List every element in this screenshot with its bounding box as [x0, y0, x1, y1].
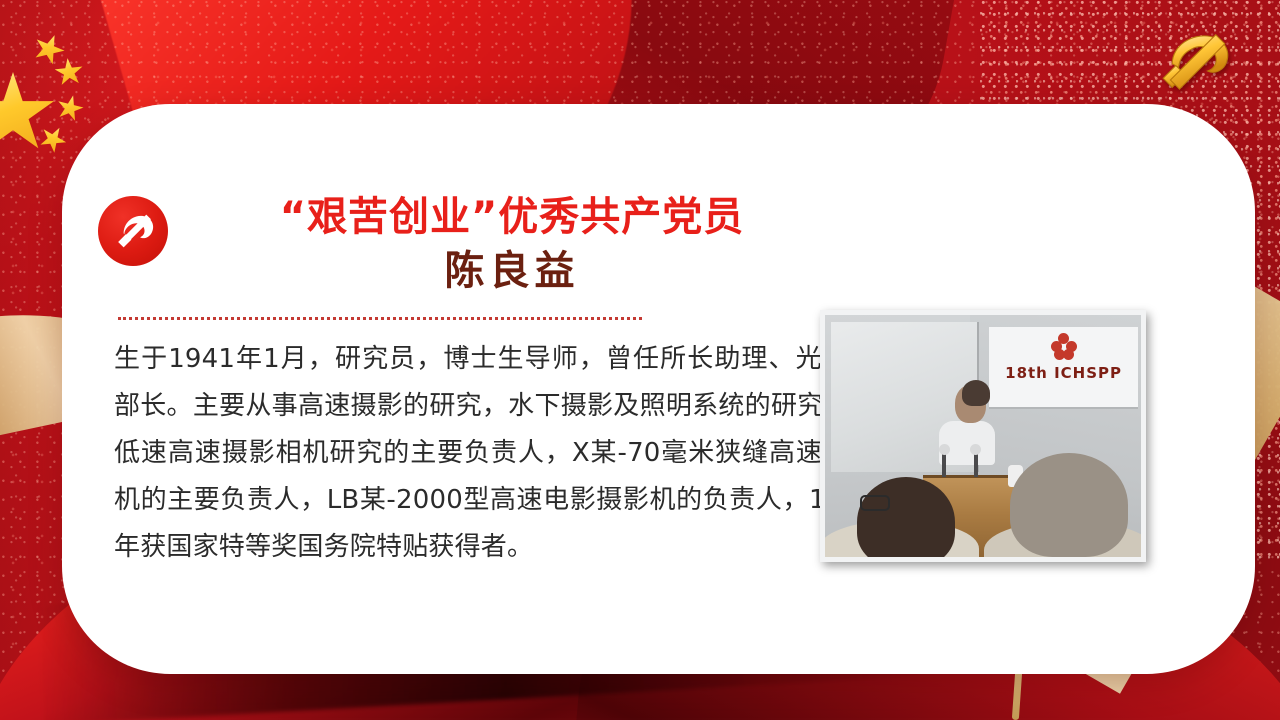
photo-speaker-hair — [962, 380, 990, 406]
photo-banner-text: 18th ICHSPP — [989, 364, 1138, 382]
photo-speaker-body — [939, 421, 995, 465]
party-emblem-badge-icon — [98, 196, 168, 266]
person-name: 陈良益 — [192, 245, 832, 296]
flag-star-small-1 — [29, 29, 68, 68]
title-block: “艰苦创业”优秀共产党员 陈良益 — [192, 194, 832, 296]
content-card: “艰苦创业”优秀共产党员 陈良益 生于1941年1月，研究员，博士生导师，曾任所… — [62, 104, 1255, 674]
photo-audience-right-head — [1010, 453, 1128, 557]
slide-root: “艰苦创业”优秀共产党员 陈良益 生于1941年1月，研究员，博士生导师，曾任所… — [0, 0, 1280, 720]
photo-audience-glasses — [860, 495, 890, 511]
page-title: “艰苦创业”优秀共产党员 — [192, 194, 832, 241]
photo-banner: 18th ICHSPP — [989, 327, 1138, 409]
photo-audience-left-head — [857, 477, 955, 557]
hammer-sickle-emblem-icon — [1146, 22, 1242, 100]
dotted-divider — [118, 317, 642, 320]
plum-blossom-logo-icon — [1051, 333, 1077, 359]
flag-star-small-3 — [54, 92, 86, 124]
biography-paragraph: 生于1941年1月，研究员，博士生导师，曾任所长助理、光工部部长。主要从事高速摄… — [114, 336, 876, 571]
conference-photo: 18th ICHSPP — [820, 310, 1146, 562]
flag-star-small-4 — [35, 121, 71, 157]
photo-content: 18th ICHSPP — [825, 315, 1141, 557]
flag-star-small-2 — [54, 57, 85, 88]
